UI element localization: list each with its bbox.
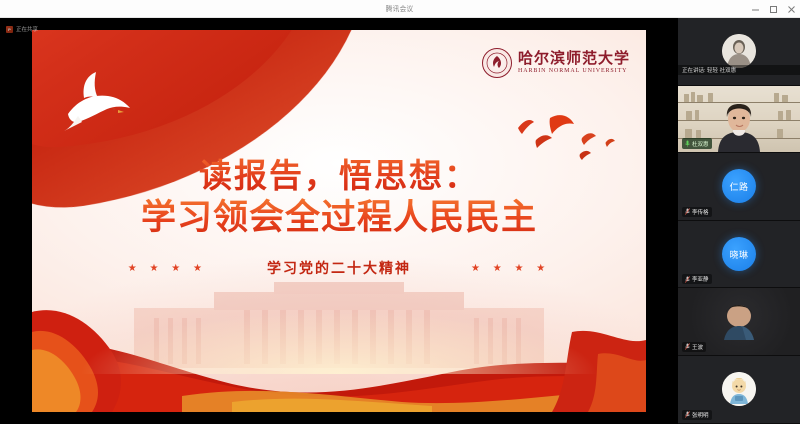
participant-name-text: 李传格 (692, 208, 709, 216)
university-crest-icon (482, 48, 512, 78)
microphone-muted-icon (685, 343, 690, 350)
avatar: 仁路 (722, 169, 756, 203)
university-name-block: 哈尔滨师范大学 HARBIN NORMAL UNIVERSITY (518, 52, 630, 74)
participant-tile[interactable]: 正在讲话: 轻轻 社双惠 (678, 18, 800, 86)
participant-sidebar[interactable]: 正在讲话: 轻轻 社双惠 (678, 18, 800, 424)
window-controls (751, 0, 796, 18)
slide-subtitle-row: ★ ★ ★ ★ 学习党的二十大精神 ★ ★ ★ ★ (32, 258, 646, 278)
stars-right-decoration: ★ ★ ★ ★ (471, 263, 550, 274)
bottom-glow (32, 284, 646, 374)
participant-tile[interactable]: 王波 (678, 288, 800, 356)
university-logo: 哈尔滨师范大学 HARBIN NORMAL UNIVERSITY (482, 48, 630, 78)
microphone-muted-icon (685, 411, 690, 418)
participant-tile[interactable]: 仁路 李传格 (678, 153, 800, 221)
slide-title-line1: 读报告，悟思想： (32, 158, 646, 197)
university-name-cn: 哈尔滨师范大学 (518, 52, 630, 67)
window-title: 腾讯会议 (386, 4, 414, 14)
participant-tile[interactable]: 晓琳 李亚静 (678, 221, 800, 289)
speaking-banner: 正在讲话: 轻轻 社双惠 (678, 65, 800, 75)
powerpoint-icon: P (6, 26, 13, 33)
microphone-muted-icon (685, 276, 690, 283)
meeting-window: 腾讯会议 P 正在共享 (0, 0, 800, 424)
participant-tile[interactable]: 杜双惠 (678, 86, 800, 154)
share-status-label: P 正在共享 (6, 25, 38, 33)
participant-name-label: 王波 (682, 342, 706, 352)
share-status-text: 正在共享 (16, 25, 38, 33)
avatar (722, 34, 756, 68)
participant-name-text: 王波 (692, 343, 703, 351)
speaking-banner-text: 正在讲话: 轻轻 社双惠 (682, 66, 796, 74)
participant-name-label: 李传格 (682, 207, 712, 217)
microphone-muted-icon (685, 208, 690, 215)
participant-name-text: 杜双惠 (692, 140, 709, 148)
participant-tile[interactable]: 张明明 (678, 356, 800, 424)
title-bar: 腾讯会议 (0, 0, 800, 18)
participant-name-text: 张明明 (692, 411, 709, 419)
participant-name-label: 杜双惠 (682, 138, 712, 149)
slide-title-line2: 学习领会全过程人民民主 (32, 197, 646, 238)
white-dove-icon (54, 70, 136, 136)
microphone-icon (685, 140, 690, 147)
shared-content-area[interactable]: P 正在共享 (0, 18, 678, 424)
stars-left-decoration: ★ ★ ★ ★ (128, 263, 207, 274)
slide-subtitle: 学习党的二十大精神 (267, 258, 411, 278)
maximize-icon[interactable] (769, 5, 778, 14)
presentation-slide: 哈尔滨师范大学 HARBIN NORMAL UNIVERSITY (32, 30, 646, 412)
participant-name-label: 李亚静 (682, 274, 712, 284)
avatar: 晓琳 (722, 237, 756, 271)
university-name-en: HARBIN NORMAL UNIVERSITY (518, 68, 630, 74)
minimize-icon[interactable] (751, 5, 760, 14)
slide-title-block: 读报告，悟思想： 学习领会全过程人民民主 (32, 158, 646, 238)
participant-name-text: 李亚静 (692, 275, 709, 283)
close-icon[interactable] (787, 5, 796, 14)
participant-video-person (716, 100, 762, 152)
participant-name-label: 张明明 (682, 410, 712, 420)
avatar (722, 372, 756, 406)
cartoon-avatar-icon (722, 372, 756, 406)
